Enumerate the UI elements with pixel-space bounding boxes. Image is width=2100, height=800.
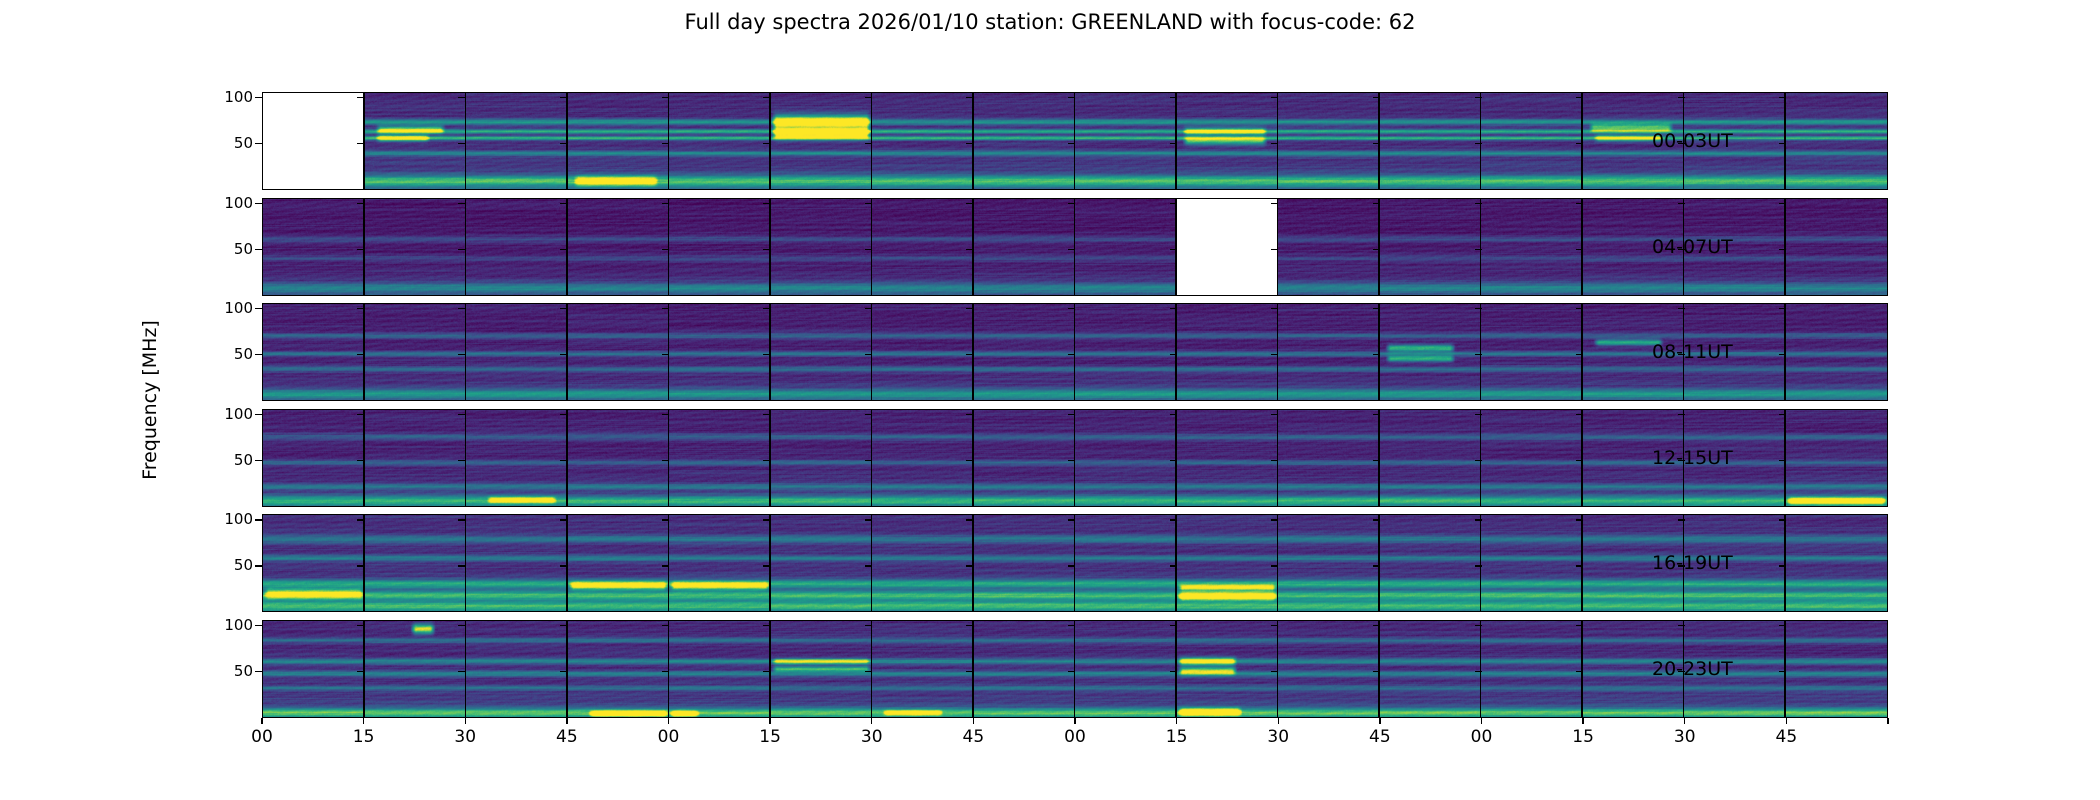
spectrogram-panel[interactable]	[263, 304, 365, 400]
y-tick-mark-inner	[560, 519, 567, 520]
spectrogram-image	[1380, 304, 1482, 400]
spectrogram-image	[771, 621, 873, 717]
spectrogram-panel[interactable]	[1278, 515, 1380, 611]
spectrogram-panel[interactable]	[1177, 410, 1279, 506]
y-tick-mark	[255, 203, 262, 204]
y-tick-mark-inner	[1779, 143, 1786, 144]
y-tick-mark-inner	[1271, 565, 1278, 566]
y-tick-mark-inner	[1271, 203, 1278, 204]
y-tick-mark-inner	[357, 249, 364, 250]
y-tick-mark-inner	[1170, 565, 1177, 566]
y-tick-mark-inner	[966, 308, 973, 309]
spectrogram-image	[263, 199, 365, 295]
spectrogram-panel[interactable]	[1075, 515, 1177, 611]
y-tick-mark-inner	[1779, 203, 1786, 204]
row-label-16-19: 16-19UT	[1652, 552, 1733, 574]
spectrogram-panel[interactable]	[1481, 93, 1583, 189]
spectrogram-panel[interactable]	[1278, 410, 1380, 506]
y-tick-mark-inner	[865, 354, 872, 355]
x-tick-label: 15	[353, 727, 375, 747]
y-tick-mark-inner	[1576, 625, 1583, 626]
spectrogram-panel[interactable]	[1786, 93, 1888, 189]
spectrogram-panel[interactable]	[466, 515, 568, 611]
x-tick-mark	[1074, 718, 1075, 724]
spectrogram-panel[interactable]	[466, 199, 568, 295]
y-tick-mark-inner	[1170, 519, 1177, 520]
spectrogram-panel[interactable]	[1481, 410, 1583, 506]
y-tick-mark-inner	[1373, 519, 1380, 520]
row-axes[interactable]	[262, 92, 1888, 190]
x-tick-label: 45	[1369, 727, 1391, 747]
spectrogram-panel[interactable]	[1278, 199, 1380, 295]
spectrogram-panel[interactable]	[466, 410, 568, 506]
y-tick-mark-inner	[357, 519, 364, 520]
spectrogram-row-20-23: 10050	[262, 620, 1888, 718]
spectrogram-panel[interactable]	[872, 199, 974, 295]
y-tick-label: 50	[234, 662, 253, 680]
y-tick-mark-inner	[966, 249, 973, 250]
spectrogram-panel[interactable]	[1786, 199, 1888, 295]
y-tick-mark-inner	[662, 354, 669, 355]
spectrogram-image	[1380, 515, 1482, 611]
y-tick-mark-inner	[662, 308, 669, 309]
spectrogram-panel[interactable]	[365, 515, 467, 611]
y-tick-mark-inner	[865, 671, 872, 672]
x-tick-mark	[363, 718, 364, 724]
y-tick-mark-inner	[1068, 671, 1075, 672]
y-tick-mark-inner	[763, 203, 770, 204]
y-tick-mark-inner	[763, 625, 770, 626]
y-tick-mark-inner	[1779, 671, 1786, 672]
y-tick-mark-inner	[865, 203, 872, 204]
spectrogram-panel[interactable]	[1380, 515, 1482, 611]
y-tick-mark-inner	[560, 354, 567, 355]
y-tick-mark-inner	[1170, 203, 1177, 204]
y-tick-mark-inner	[560, 625, 567, 626]
y-tick-mark-inner	[662, 97, 669, 98]
x-tick-mark	[566, 718, 567, 724]
spectrogram-panel[interactable]	[568, 621, 670, 717]
spectrogram-panel[interactable]	[974, 515, 1076, 611]
x-tick-label: 00	[251, 727, 273, 747]
spectrogram-panel[interactable]	[771, 410, 873, 506]
y-tick-mark	[255, 671, 262, 672]
spectrogram-panel[interactable]	[669, 621, 771, 717]
spectrogram-panel[interactable]	[1177, 304, 1279, 400]
row-axes[interactable]	[262, 198, 1888, 296]
y-tick-mark-inner	[1373, 460, 1380, 461]
y-tick-mark-inner	[357, 625, 364, 626]
x-tick-mark	[871, 718, 872, 724]
y-tick-mark-inner	[1678, 249, 1685, 250]
y-tick-mark-inner	[1271, 308, 1278, 309]
spectrogram-panel[interactable]	[872, 93, 974, 189]
y-tick-mark-inner	[1373, 249, 1380, 250]
spectrogram-image	[1380, 410, 1482, 506]
y-tick-mark-inner	[763, 143, 770, 144]
y-tick-mark-inner	[1170, 625, 1177, 626]
y-tick-mark	[255, 519, 262, 520]
y-tick-label: 50	[234, 134, 253, 152]
y-tick-mark-inner	[865, 460, 872, 461]
spectrogram-panel[interactable]	[974, 93, 1076, 189]
spectrogram-image	[771, 515, 873, 611]
y-tick-mark-inner	[1576, 308, 1583, 309]
y-tick-mark-inner	[865, 519, 872, 520]
x-tick-mark	[1379, 718, 1380, 724]
spectrogram-image	[1481, 621, 1583, 717]
spectrogram-image	[466, 621, 568, 717]
spectrogram-panel[interactable]	[872, 515, 974, 611]
spectrogram-image	[568, 515, 670, 611]
x-tick-label: 30	[861, 727, 883, 747]
spectrogram-image	[974, 621, 1076, 717]
spectrogram-panel[interactable]	[365, 199, 467, 295]
spectrogram-panel-missing[interactable]	[263, 93, 365, 189]
y-tick-mark-inner	[1170, 414, 1177, 415]
spectrogram-panel[interactable]	[1278, 621, 1380, 717]
y-tick-mark-inner	[560, 308, 567, 309]
spectrogram-panel[interactable]	[1481, 515, 1583, 611]
spectrogram-panel[interactable]	[568, 199, 670, 295]
spectrogram-image	[669, 93, 771, 189]
spectrogram-panel[interactable]	[365, 93, 467, 189]
spectrogram-image	[1481, 304, 1583, 400]
y-tick-label: 50	[234, 556, 253, 574]
panel-strip	[263, 199, 1887, 295]
spectrogram-panel[interactable]	[466, 93, 568, 189]
spectrogram-panel[interactable]	[568, 93, 670, 189]
y-tick-mark-inner	[763, 354, 770, 355]
spectrogram-panel[interactable]	[872, 410, 974, 506]
panel-strip	[263, 93, 1887, 189]
spectrogram-panel[interactable]	[1481, 199, 1583, 295]
y-axis-title: Frequency [MHz]	[139, 320, 161, 480]
spectrogram-image	[1786, 93, 1888, 189]
spectrogram-row-04-07: 10050	[262, 198, 1888, 296]
y-tick-mark-inner	[1475, 565, 1482, 566]
spectrogram-panel[interactable]	[466, 621, 568, 717]
spectrogram-row-08-11: 10050	[262, 303, 1888, 401]
spectrogram-image	[974, 410, 1076, 506]
spectrogram-row-16-19: 10050	[262, 514, 1888, 612]
y-tick-mark-inner	[1475, 625, 1482, 626]
y-tick-mark-inner	[1373, 625, 1380, 626]
y-tick-mark-inner	[966, 519, 973, 520]
y-tick-mark-inner	[458, 143, 465, 144]
row-label-04-07: 04-07UT	[1652, 236, 1733, 258]
y-tick-mark-inner	[1373, 354, 1380, 355]
spectrogram-image	[872, 93, 974, 189]
y-tick-mark-inner	[662, 565, 669, 566]
spectrogram-panel[interactable]	[669, 410, 771, 506]
spectrogram-panel[interactable]	[1380, 93, 1482, 189]
spectrogram-panel[interactable]	[974, 304, 1076, 400]
y-tick-mark-inner	[1068, 519, 1075, 520]
y-tick-mark-inner	[662, 414, 669, 415]
y-tick-mark-inner	[1576, 460, 1583, 461]
x-tick-mark	[1176, 718, 1177, 724]
spectrogram-image	[1786, 410, 1888, 506]
row-axes[interactable]	[262, 303, 1888, 401]
spectrogram-image	[568, 621, 670, 717]
spectrogram-panel[interactable]	[1075, 199, 1177, 295]
y-tick-mark-inner	[865, 97, 872, 98]
spectrogram-panel[interactable]	[1380, 410, 1482, 506]
spectrogram-panel[interactable]	[1278, 304, 1380, 400]
y-tick-mark-inner	[1779, 97, 1786, 98]
spectrogram-image	[466, 199, 568, 295]
y-tick-mark-inner	[1170, 308, 1177, 309]
y-tick-mark-inner	[763, 97, 770, 98]
y-tick-mark-inner	[966, 143, 973, 144]
x-tick-label: 15	[759, 727, 781, 747]
spectrogram-panel[interactable]	[1177, 621, 1279, 717]
spectrogram-image	[1481, 410, 1583, 506]
panel-strip	[263, 621, 1887, 717]
y-tick-mark-inner	[1779, 414, 1786, 415]
spectrogram-panel[interactable]	[771, 515, 873, 611]
row-axes[interactable]	[262, 514, 1888, 612]
spectrogram-panel[interactable]	[263, 515, 365, 611]
y-tick-mark-inner	[1678, 203, 1685, 204]
y-tick-mark-inner	[458, 671, 465, 672]
y-tick-mark-inner	[1271, 143, 1278, 144]
y-tick-mark-inner	[865, 143, 872, 144]
y-tick-mark-inner	[357, 671, 364, 672]
y-tick-mark-inner	[1678, 414, 1685, 415]
spectrogram-panel[interactable]	[771, 304, 873, 400]
spectrogram-panel[interactable]	[568, 410, 670, 506]
y-tick-mark	[255, 249, 262, 250]
row-label-00-03: 00-03UT	[1652, 130, 1733, 152]
y-tick-mark-inner	[1779, 354, 1786, 355]
y-tick-label: 100	[224, 194, 253, 212]
spectrogram-image	[872, 410, 974, 506]
y-tick-mark-inner	[1068, 354, 1075, 355]
x-tick-mark	[261, 718, 262, 724]
y-tick-mark-inner	[1678, 308, 1685, 309]
spectrogram-panel[interactable]	[1075, 621, 1177, 717]
spectrogram-panel[interactable]	[974, 199, 1076, 295]
x-tick-label: 15	[1166, 727, 1188, 747]
spectrogram-image	[365, 199, 467, 295]
spectrogram-image	[1278, 304, 1380, 400]
y-tick-mark-inner	[1475, 203, 1482, 204]
spectrogram-panel[interactable]	[365, 621, 467, 717]
y-tick-mark-inner	[1678, 460, 1685, 461]
y-tick-label: 50	[234, 345, 253, 363]
y-tick-mark-inner	[1678, 625, 1685, 626]
y-tick-mark-inner	[357, 97, 364, 98]
spectrogram-image	[1786, 515, 1888, 611]
spectrogram-image	[1278, 410, 1380, 506]
spectrogram-image	[1177, 410, 1279, 506]
x-tick-label: 00	[1064, 727, 1086, 747]
spectrogram-panel[interactable]	[568, 304, 670, 400]
x-tick-mark	[465, 718, 466, 724]
spectrogram-image	[263, 621, 365, 717]
y-tick-mark-inner	[1271, 671, 1278, 672]
spectrogram-panel[interactable]	[1380, 621, 1482, 717]
spectrogram-panel[interactable]	[1481, 621, 1583, 717]
y-tick-mark-inner	[1271, 354, 1278, 355]
spectrogram-panel[interactable]	[974, 621, 1076, 717]
x-tick-mark	[1582, 718, 1583, 724]
spectrogram-image	[669, 199, 771, 295]
x-tick-mark	[1684, 718, 1685, 724]
spectrogram-image	[568, 410, 670, 506]
spectrogram-panel[interactable]	[466, 304, 568, 400]
y-tick-mark-inner	[966, 97, 973, 98]
spectrogram-image	[263, 410, 365, 506]
y-tick-mark-inner	[1475, 249, 1482, 250]
y-tick-mark-inner	[1271, 97, 1278, 98]
spectrogram-image	[1075, 410, 1177, 506]
y-tick-mark-inner	[865, 308, 872, 309]
y-tick-mark-inner	[560, 565, 567, 566]
spectrogram-image	[974, 515, 1076, 611]
spectrogram-panel[interactable]	[263, 410, 365, 506]
spectrogram-image	[974, 304, 1076, 400]
spectrogram-image	[1786, 199, 1888, 295]
spectrogram-row-00-03: 10050	[262, 92, 1888, 190]
y-tick-mark-inner	[1475, 414, 1482, 415]
spectrogram-image	[1481, 515, 1583, 611]
spectrogram-image	[568, 304, 670, 400]
spectrogram-image	[1380, 93, 1482, 189]
spectrogram-panel[interactable]	[365, 410, 467, 506]
spectrogram-image	[872, 304, 974, 400]
y-tick-mark-inner	[1475, 143, 1482, 144]
spectrogram-image	[771, 304, 873, 400]
spectrogram-panel[interactable]	[1177, 515, 1279, 611]
y-tick-mark-inner	[966, 414, 973, 415]
y-tick-mark-inner	[1678, 671, 1685, 672]
x-tick-mark	[1278, 718, 1279, 724]
x-tick-mark	[1481, 718, 1482, 724]
y-tick-mark-inner	[458, 308, 465, 309]
spectrogram-panel[interactable]	[1380, 304, 1482, 400]
y-tick-mark-inner	[1373, 671, 1380, 672]
spectrogram-panel[interactable]	[1177, 93, 1279, 189]
y-tick-mark-inner	[1475, 460, 1482, 461]
spectrogram-image	[1177, 621, 1279, 717]
y-tick-mark-inner	[865, 249, 872, 250]
spectrogram-panel[interactable]	[974, 410, 1076, 506]
y-tick-mark-inner	[1576, 519, 1583, 520]
spectrogram-panel[interactable]	[1786, 621, 1888, 717]
spectrogram-panel[interactable]	[1786, 304, 1888, 400]
spectrogram-panel[interactable]	[1380, 199, 1482, 295]
y-tick-mark-inner	[357, 143, 364, 144]
spectrogram-image	[1278, 93, 1380, 189]
spectrogram-figure: Full day spectra 2026/01/10 station: GRE…	[0, 0, 2100, 800]
spectrogram-image	[771, 410, 873, 506]
y-tick-mark-inner	[1576, 414, 1583, 415]
spectrogram-image	[669, 621, 771, 717]
spectrogram-panel[interactable]	[669, 304, 771, 400]
y-tick-mark-inner	[966, 203, 973, 204]
spectrogram-image	[1075, 304, 1177, 400]
spectrogram-panel[interactable]	[263, 199, 365, 295]
y-tick-mark-inner	[1068, 143, 1075, 144]
spectrogram-panel[interactable]	[263, 621, 365, 717]
row-axes[interactable]	[262, 620, 1888, 718]
spectrogram-image	[872, 515, 974, 611]
spectrogram-panel[interactable]	[669, 515, 771, 611]
y-tick-mark-inner	[1779, 519, 1786, 520]
y-tick-mark-inner	[966, 671, 973, 672]
y-tick-mark	[255, 308, 262, 309]
spectrogram-image	[568, 93, 670, 189]
y-tick-mark-inner	[1779, 308, 1786, 309]
y-tick-mark-inner	[1271, 519, 1278, 520]
y-tick-mark-inner	[865, 565, 872, 566]
spectrogram-panel[interactable]	[365, 304, 467, 400]
x-axis: 00153045001530450015304500153045	[262, 718, 1888, 762]
spectrogram-panel-missing[interactable]	[1177, 199, 1279, 295]
spectrogram-panel[interactable]	[771, 93, 873, 189]
y-tick-mark-inner	[357, 308, 364, 309]
y-tick-mark-inner	[966, 625, 973, 626]
y-tick-mark-inner	[1373, 565, 1380, 566]
y-tick-mark-inner	[1576, 97, 1583, 98]
y-tick-label: 100	[224, 616, 253, 634]
y-tick-mark-inner	[662, 519, 669, 520]
spectrogram-image	[1278, 199, 1380, 295]
spectrogram-image	[872, 621, 974, 717]
y-tick-mark-inner	[560, 460, 567, 461]
spectrogram-image	[263, 304, 365, 400]
spectrogram-panel[interactable]	[1481, 304, 1583, 400]
spectrogram-panel[interactable]	[1075, 93, 1177, 189]
y-tick-label: 100	[224, 88, 253, 106]
spectrogram-panel[interactable]	[872, 304, 974, 400]
spectrogram-panel[interactable]	[872, 621, 974, 717]
y-tick-mark-inner	[458, 565, 465, 566]
row-axes[interactable]	[262, 409, 1888, 507]
y-tick-mark-inner	[1271, 414, 1278, 415]
spectrogram-panel[interactable]	[1075, 304, 1177, 400]
spectrogram-image	[466, 410, 568, 506]
y-tick-mark-inner	[1475, 308, 1482, 309]
y-tick-mark-inner	[662, 671, 669, 672]
y-tick-mark-inner	[1271, 460, 1278, 461]
y-tick-mark-inner	[357, 565, 364, 566]
y-tick-mark-inner	[1170, 249, 1177, 250]
spectrogram-panel[interactable]	[669, 93, 771, 189]
spectrogram-panel[interactable]	[568, 515, 670, 611]
row-label-08-11: 08-11UT	[1652, 341, 1733, 363]
spectrogram-panel[interactable]	[1278, 93, 1380, 189]
x-tick-mark	[1786, 718, 1787, 724]
y-tick-mark-inner	[1271, 625, 1278, 626]
spectrogram-panel[interactable]	[669, 199, 771, 295]
spectrogram-panel[interactable]	[1786, 515, 1888, 611]
y-tick-label: 100	[224, 405, 253, 423]
y-tick-mark-inner	[1373, 97, 1380, 98]
spectrogram-panel[interactable]	[1075, 410, 1177, 506]
spectrogram-panel[interactable]	[1786, 410, 1888, 506]
spectrogram-image	[872, 199, 974, 295]
spectrogram-panel[interactable]	[771, 621, 873, 717]
y-tick-mark-inner	[1678, 143, 1685, 144]
y-tick-mark-inner	[763, 414, 770, 415]
spectrogram-image	[974, 199, 1076, 295]
y-tick-mark	[255, 565, 262, 566]
spectrogram-panel[interactable]	[771, 199, 873, 295]
